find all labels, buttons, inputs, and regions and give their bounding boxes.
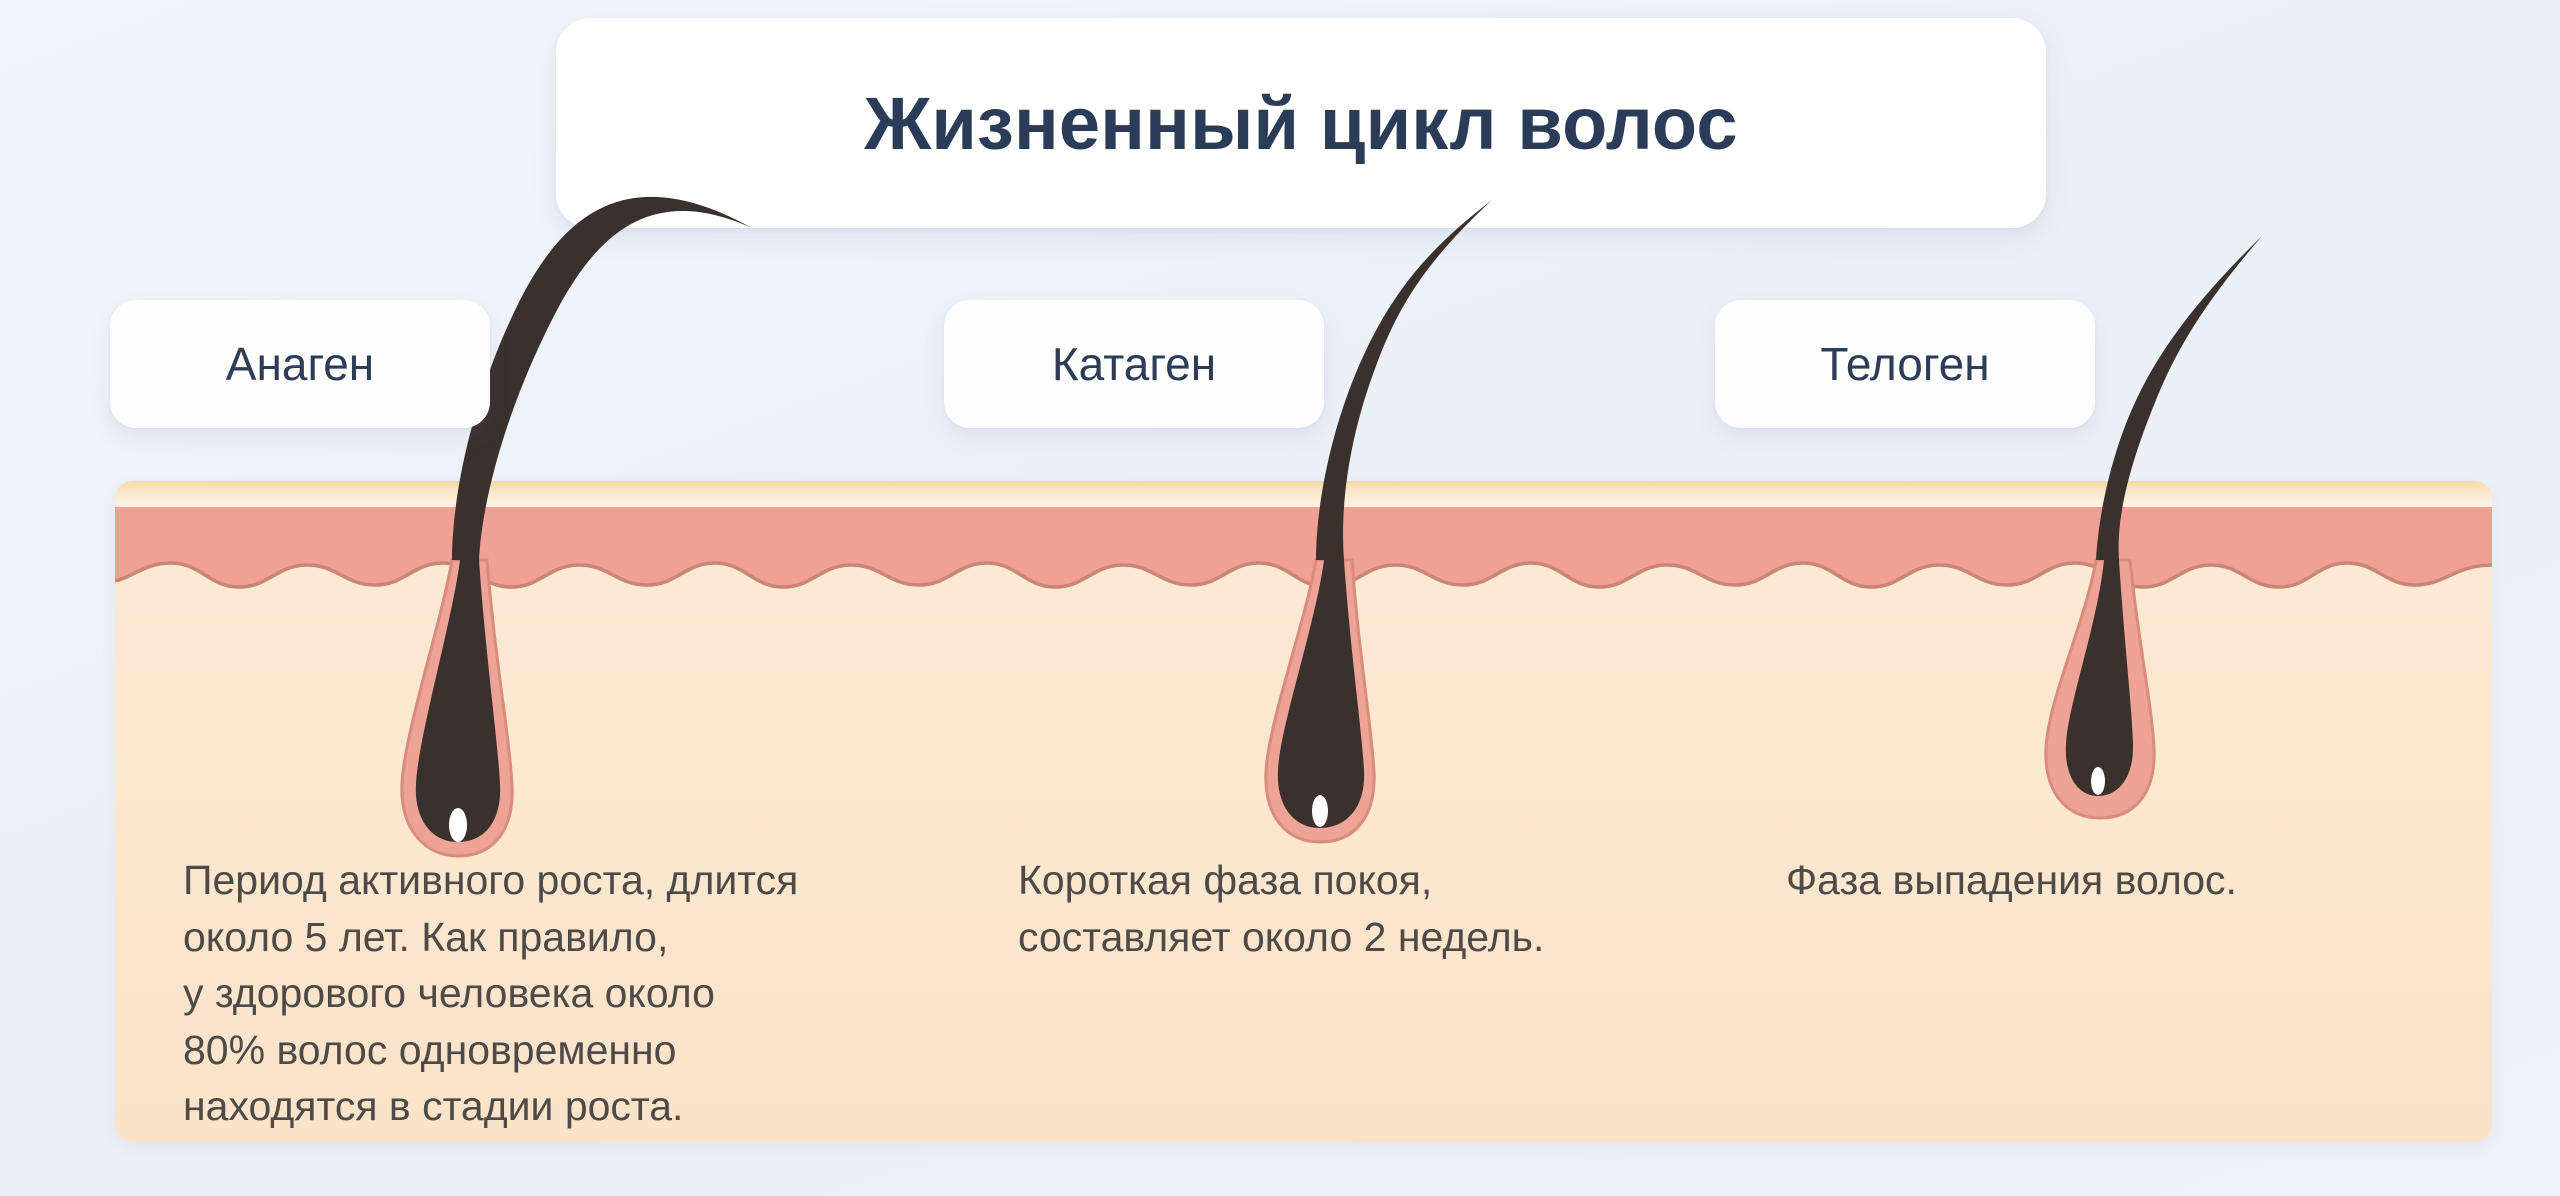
phase-description-catagen: Короткая фаза покоя, составляет около 2 … [1018, 852, 1718, 965]
phase-chip-telogen[interactable]: Телоген [1715, 300, 2095, 428]
page-title: Жизненный цикл волос [864, 81, 1737, 166]
phase-description-anagen: Период активного роста, длится около 5 л… [183, 852, 983, 1135]
phase-label-telogen: Телоген [1820, 337, 1989, 391]
phase-label-anagen: Анаген [226, 337, 374, 391]
skin-surface-layer [115, 481, 2492, 507]
title-card: Жизненный цикл волос [556, 18, 2046, 228]
phase-chip-anagen[interactable]: Анаген [110, 300, 490, 428]
phase-label-catagen: Катаген [1052, 337, 1216, 391]
phase-chip-catagen[interactable]: Катаген [944, 300, 1324, 428]
infographic-canvas: Жизненный цикл волос [0, 0, 2560, 1196]
phase-description-telogen: Фаза выпадения волос. [1786, 852, 2426, 909]
